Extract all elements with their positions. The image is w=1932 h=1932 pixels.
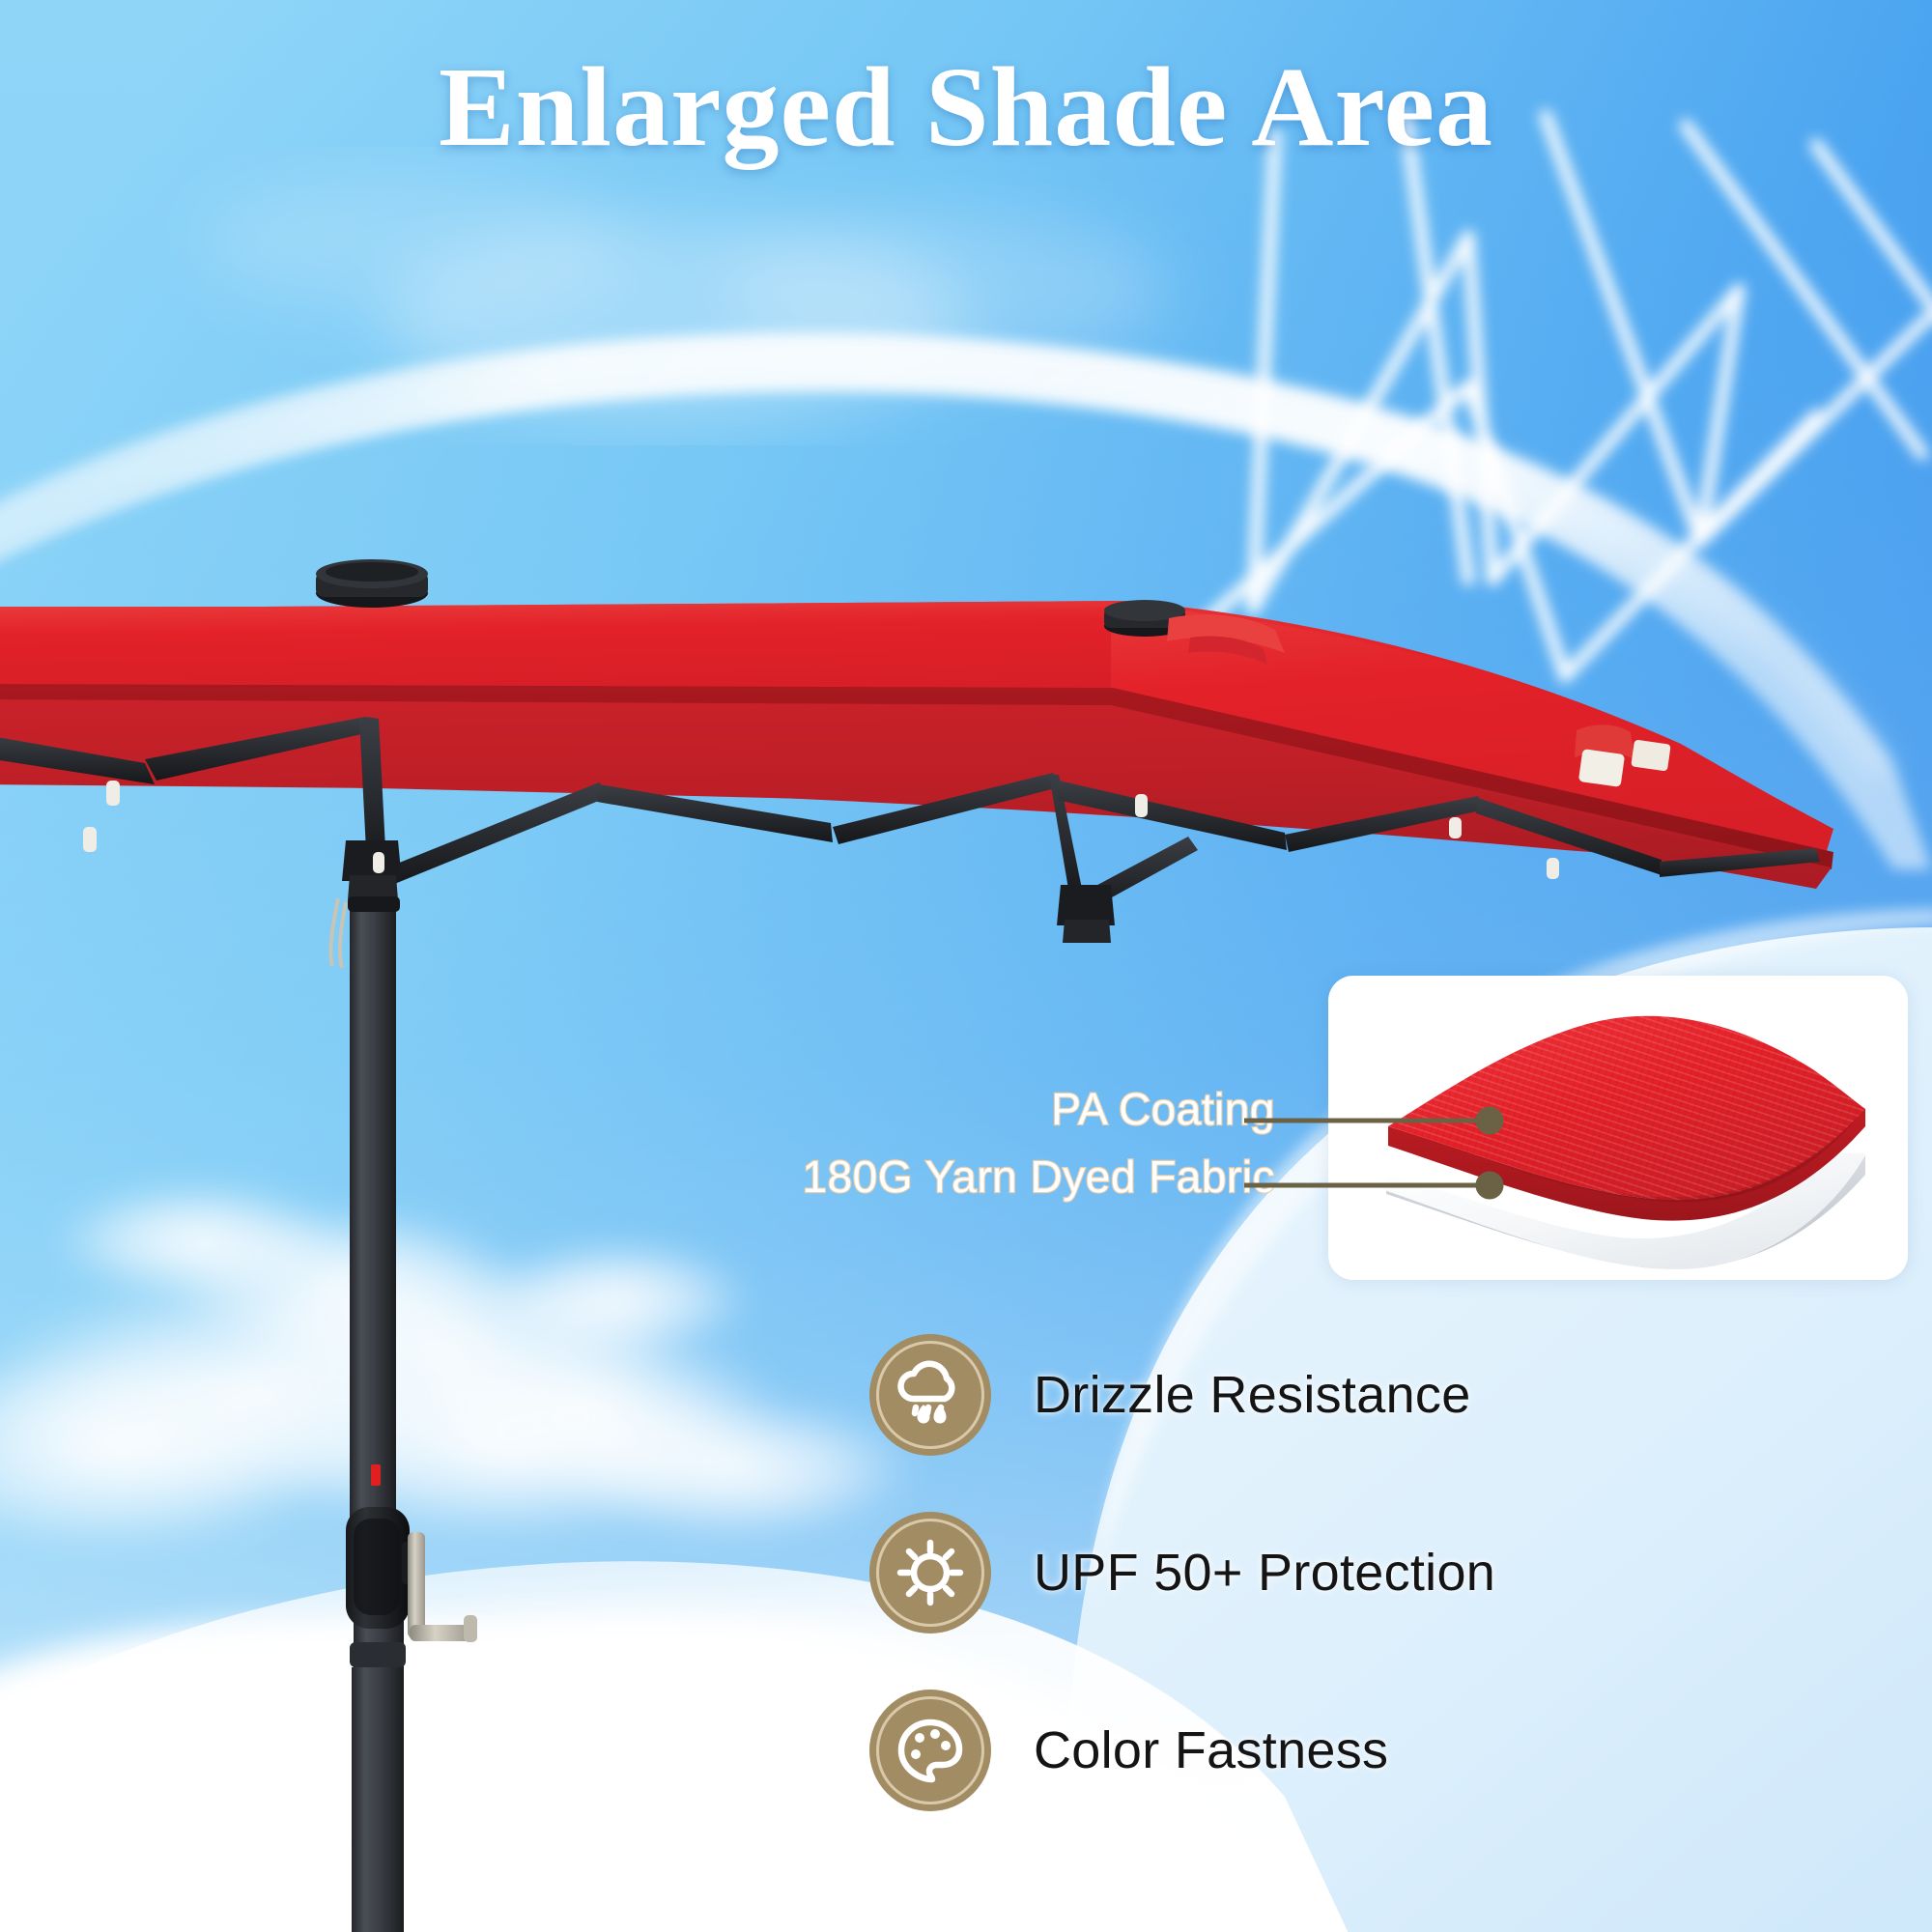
- feature-item-drizzle-resistance: Drizzle Resistance: [869, 1306, 1495, 1484]
- callout-label-yarn-dyed-fabric: 180G Yarn Dyed Fabric: [599, 1148, 1275, 1207]
- umbrella-pole: [346, 896, 477, 1932]
- rain-cloud-icon: [869, 1334, 991, 1456]
- fabric-callout-labels: PA Coating 180G Yarn Dyed Fabric: [599, 1080, 1275, 1207]
- canopy-finial-left: [316, 559, 428, 608]
- paint-palette-icon: [869, 1690, 991, 1811]
- sun-icon: [869, 1512, 991, 1634]
- feature-label-drizzle-resistance: Drizzle Resistance: [1034, 1365, 1471, 1425]
- feature-list: Drizzle Resistance UPF 50+ Protection: [869, 1306, 1495, 1839]
- canopy-cord: [330, 898, 346, 968]
- pole-joint-ring: [350, 1642, 406, 1667]
- crank-housing[interactable]: [346, 1507, 415, 1629]
- callout-label-pa-coating: PA Coating: [599, 1080, 1275, 1140]
- feature-label-color-fastness: Color Fastness: [1034, 1720, 1388, 1780]
- fabric-layer-diagram: [1328, 976, 1908, 1280]
- feature-item-color-fastness: Color Fastness: [869, 1662, 1495, 1839]
- product-feature-image: Enlarged Shade Area PA Coating 180G Yarn…: [0, 0, 1932, 1932]
- crank-handle[interactable]: [408, 1532, 477, 1642]
- feature-label-upf-protection: UPF 50+ Protection: [1034, 1543, 1495, 1603]
- feature-item-upf-protection: UPF 50+ Protection: [869, 1484, 1495, 1662]
- pole-indicator-mark: [371, 1464, 381, 1486]
- fabric-layer-panel: [1328, 976, 1908, 1280]
- canopy-top-surface: [0, 607, 1130, 688]
- page-title: Enlarged Shade Area: [0, 46, 1932, 167]
